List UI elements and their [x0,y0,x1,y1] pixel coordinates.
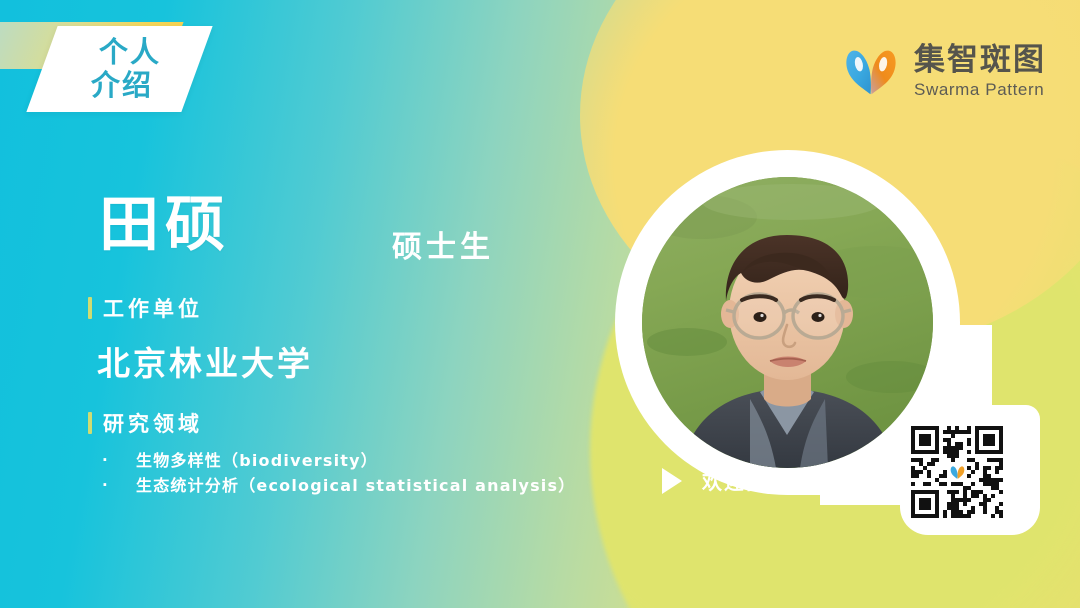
swarma-butterfly-logo-icon [840,40,902,102]
brand-logo-text: 集智斑图 Swarma Pattern [914,45,1046,98]
play-triangle-icon [662,468,682,494]
accent-bar-icon [88,297,92,319]
list-item: · 生态统计分析（ecological statistical analysis… [102,474,575,499]
list-item-label: 生物多样性（biodiversity） [136,449,378,474]
list-item-label: 生态统计分析（ecological statistical analysis） [136,474,575,499]
bullet-dot-icon: · [102,449,136,472]
banner-title-line1: 个人 [99,36,161,69]
section-research: 研究领域 · 生物多样性（biodiversity） · 生态统计分析（ecol… [88,408,575,499]
research-label: 研究领域 [103,408,203,438]
banner-title-line2: 介绍 [91,69,153,102]
qr-code[interactable] [907,422,1007,522]
affiliation-label: 工作单位 [103,293,203,323]
section-affiliation: 工作单位 北京林业大学 [88,293,313,385]
affiliation-value: 北京林业大学 [97,337,313,385]
research-heading: 研究领域 [88,408,575,438]
brand-name-en: Swarma Pattern [914,81,1046,98]
list-item: · 生物多样性（biodiversity） [102,449,575,474]
portrait-photo [642,177,933,468]
bullet-dot-icon: · [102,474,136,497]
qr-center-butterfly-icon [947,462,967,482]
section-banner: 个人 介绍 [0,0,300,150]
scan-cta-label: 欢迎扫码了解更多 [702,466,878,495]
affiliation-heading: 工作单位 [88,293,313,323]
slide-canvas: 个人 介绍 [0,0,1080,608]
brand-logo: 集智斑图 Swarma Pattern [840,40,1046,102]
accent-bar-icon [88,412,92,434]
person-name: 田硕 [99,176,231,263]
scan-cta: 欢迎扫码了解更多 [662,466,878,495]
banner-title: 个人 介绍 [58,27,188,111]
person-role: 硕士生 [392,222,494,266]
research-list: · 生物多样性（biodiversity） · 生态统计分析（ecologica… [102,449,575,499]
brand-name-cn: 集智斑图 [914,45,1046,76]
